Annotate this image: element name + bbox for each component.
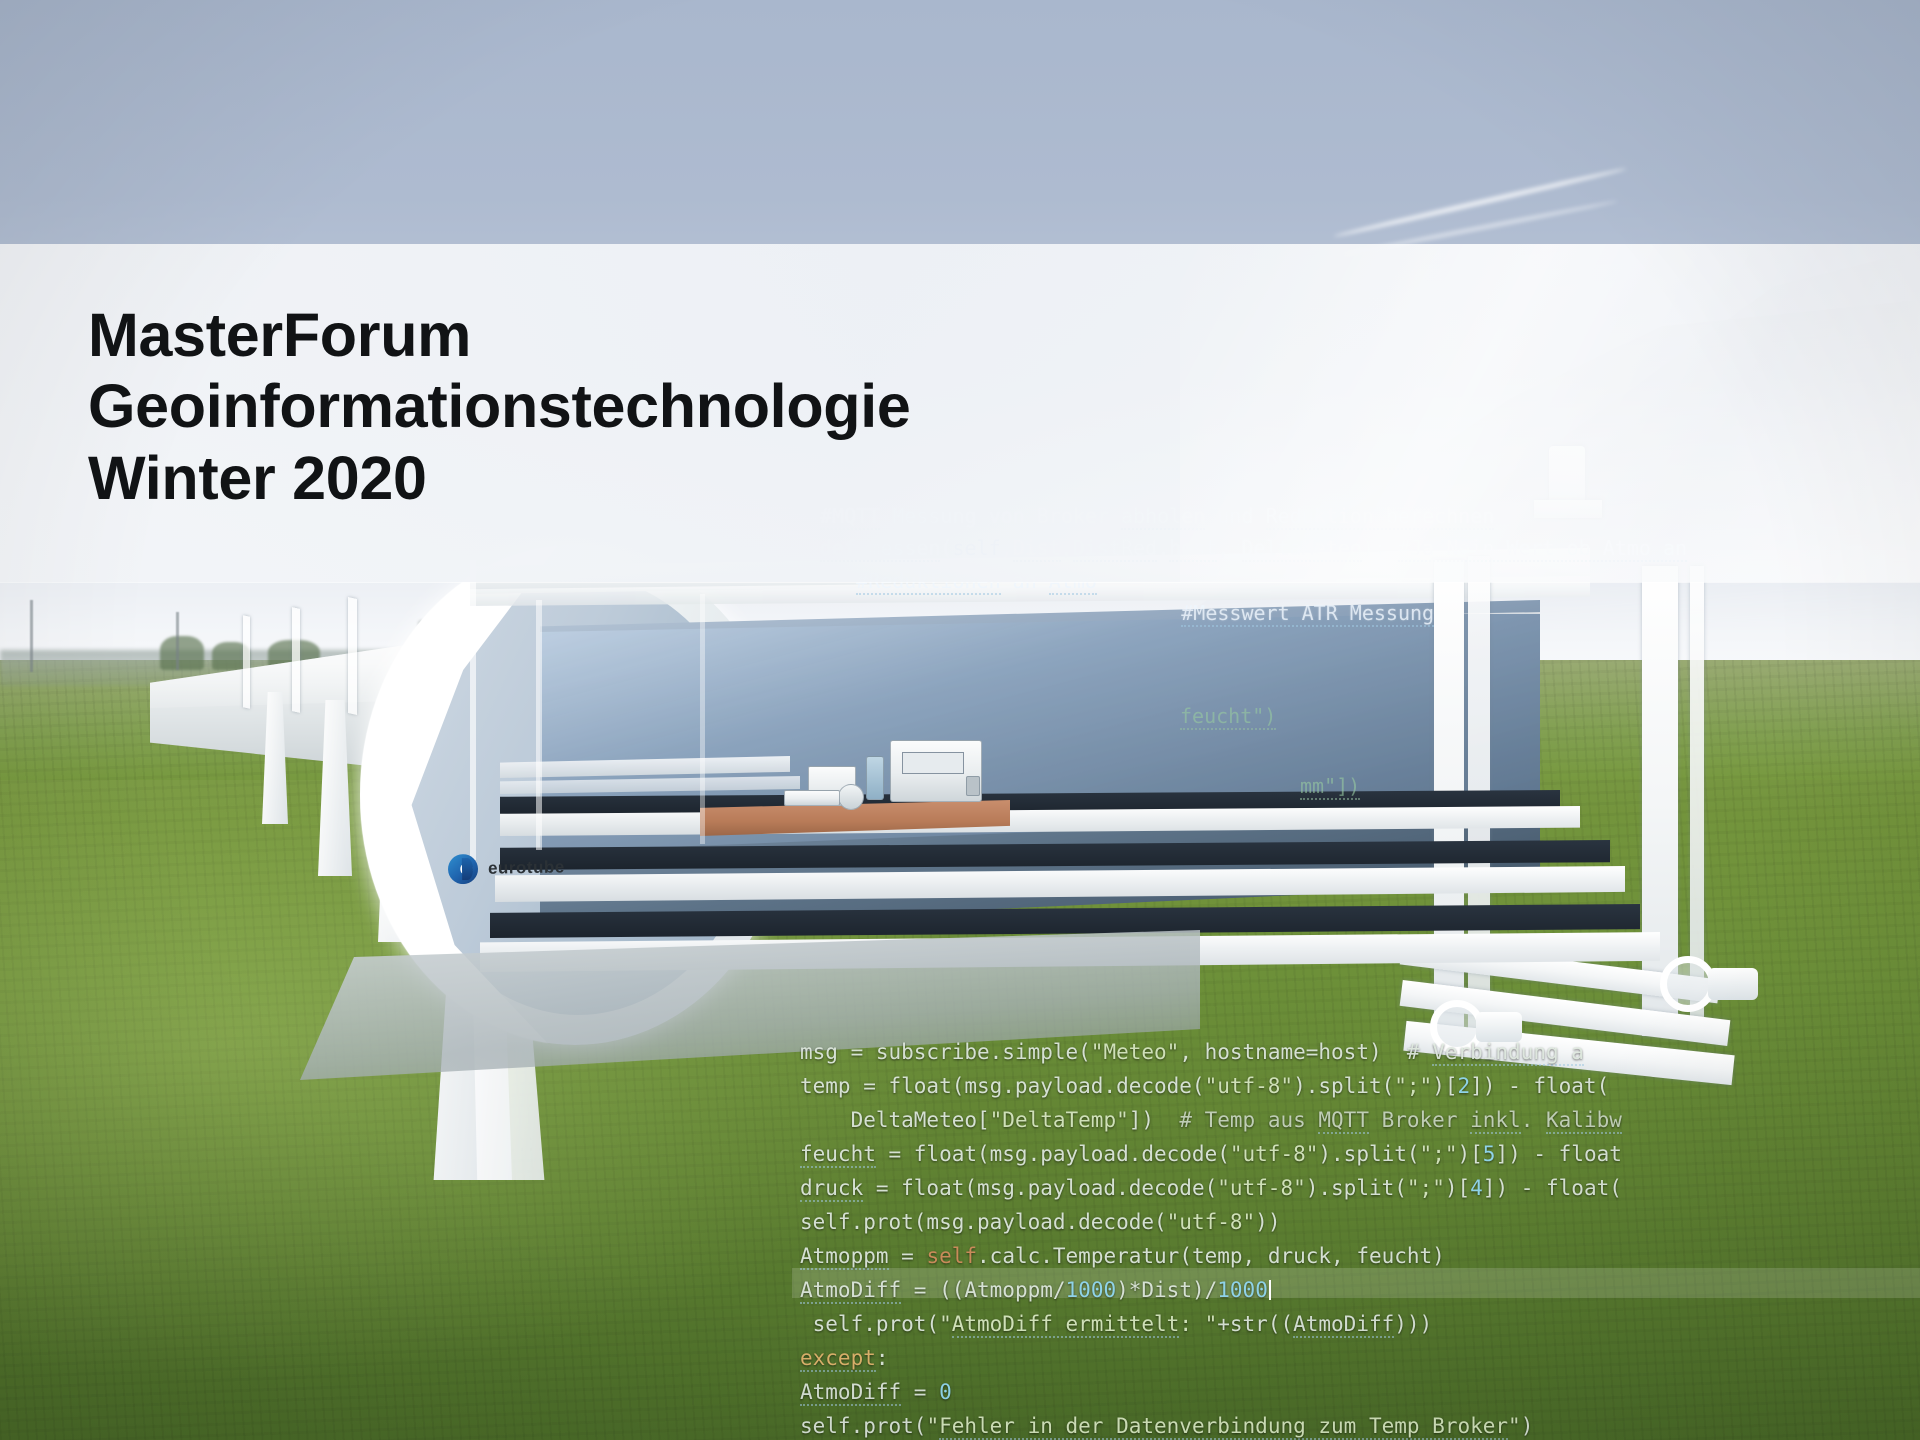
code-selected-line-highlight [792, 1268, 1920, 1298]
title-line-1: MasterForum [88, 300, 1288, 371]
eurotube-mark-icon [448, 854, 479, 885]
equipment-display [902, 752, 964, 774]
title-line-3: Winter 2020 [88, 443, 1288, 514]
glass-mullion [470, 560, 476, 860]
slide-canvas: eurotube #MQTT Messung von Broker abhole… [0, 0, 1920, 1440]
tube-rib [243, 615, 250, 708]
glass-mullion [536, 600, 542, 850]
frame-roller-axle [1708, 968, 1758, 1000]
title-band-sheen [1180, 244, 1920, 582]
tube-rib [348, 597, 357, 715]
eurotube-wordmark: eurotube [488, 857, 565, 878]
page-title: MasterForum Geoinformationstechnologie W… [88, 300, 1288, 514]
tube-rib [292, 607, 300, 713]
equipment-tray [784, 790, 840, 806]
frame-roller-axle [1476, 1012, 1522, 1042]
eurotube-logo: eurotube [448, 847, 609, 890]
hyperloop-tube: eurotube [0, 0, 1920, 1440]
title-line-2: Geoinformationstechnologie [88, 371, 1288, 442]
equipment-sensor [866, 756, 884, 800]
equipment-button [966, 776, 980, 796]
glass-mullion [700, 594, 705, 844]
equipment-dial [838, 784, 864, 810]
